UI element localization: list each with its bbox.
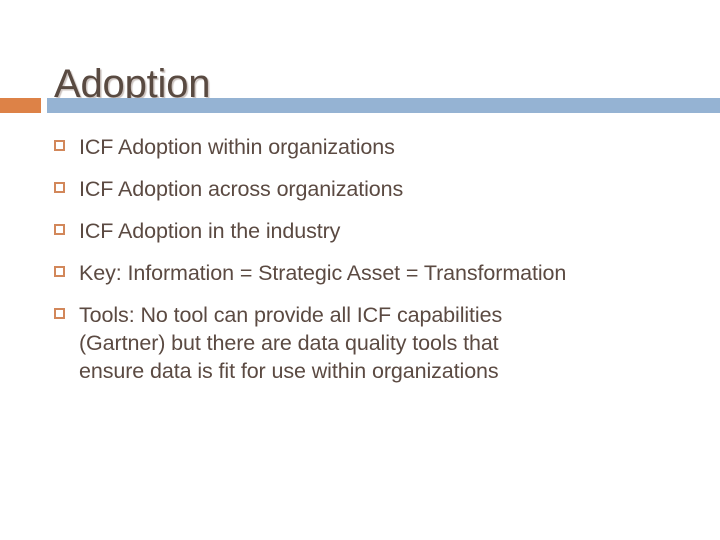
list-item-label: ICF Adoption in the industry [79,217,697,245]
slide-canvas: Adoption ICF Adoption within organizatio… [0,0,720,540]
list-item-label: ICF Adoption across organizations [79,175,697,203]
list-item: ICF Adoption within organizations [52,133,697,161]
square-bullet-icon [54,308,65,319]
list-item-label: ICF Adoption within organizations [79,133,697,161]
square-bullet-icon [54,182,65,193]
list-item: Tools: No tool can provide all ICF capab… [52,301,697,385]
bullet-list: ICF Adoption within organizations ICF Ad… [52,133,697,385]
list-item: Key: Information = Strategic Asset = Tra… [52,259,697,287]
square-bullet-icon [54,140,65,151]
title-divider [0,98,720,113]
list-item: ICF Adoption across organizations [52,175,697,203]
divider-accent-block [0,98,41,113]
square-bullet-icon [54,266,65,277]
list-item-label: Key: Information = Strategic Asset = Tra… [79,259,697,287]
square-bullet-icon [54,224,65,235]
divider-bar [47,98,720,113]
list-item: ICF Adoption in the industry [52,217,697,245]
list-item-label: Tools: No tool can provide all ICF capab… [79,301,697,385]
